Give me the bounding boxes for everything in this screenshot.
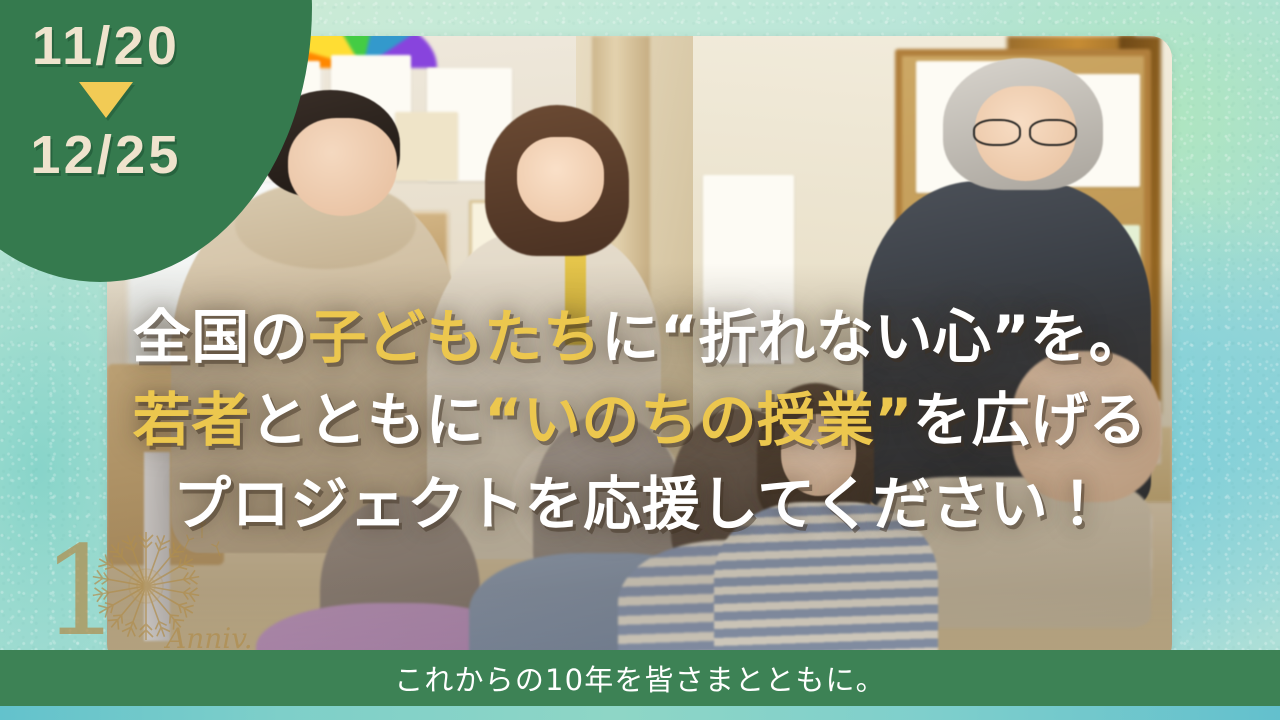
triangle-down-icon <box>79 82 133 118</box>
campaign-period-badge: 11/20 12/25 <box>0 18 212 183</box>
footer-bar: これからの10年を皆さまとともに。 <box>0 650 1280 706</box>
footer-message: これからの10年を皆さまとともに。 <box>394 657 886 699</box>
bottom-accent-strip <box>0 706 1280 720</box>
period-end-date: 12/25 <box>30 127 181 184</box>
period-start-date: 11/20 <box>32 18 180 75</box>
campaign-banner: 1 <box>0 0 1280 720</box>
